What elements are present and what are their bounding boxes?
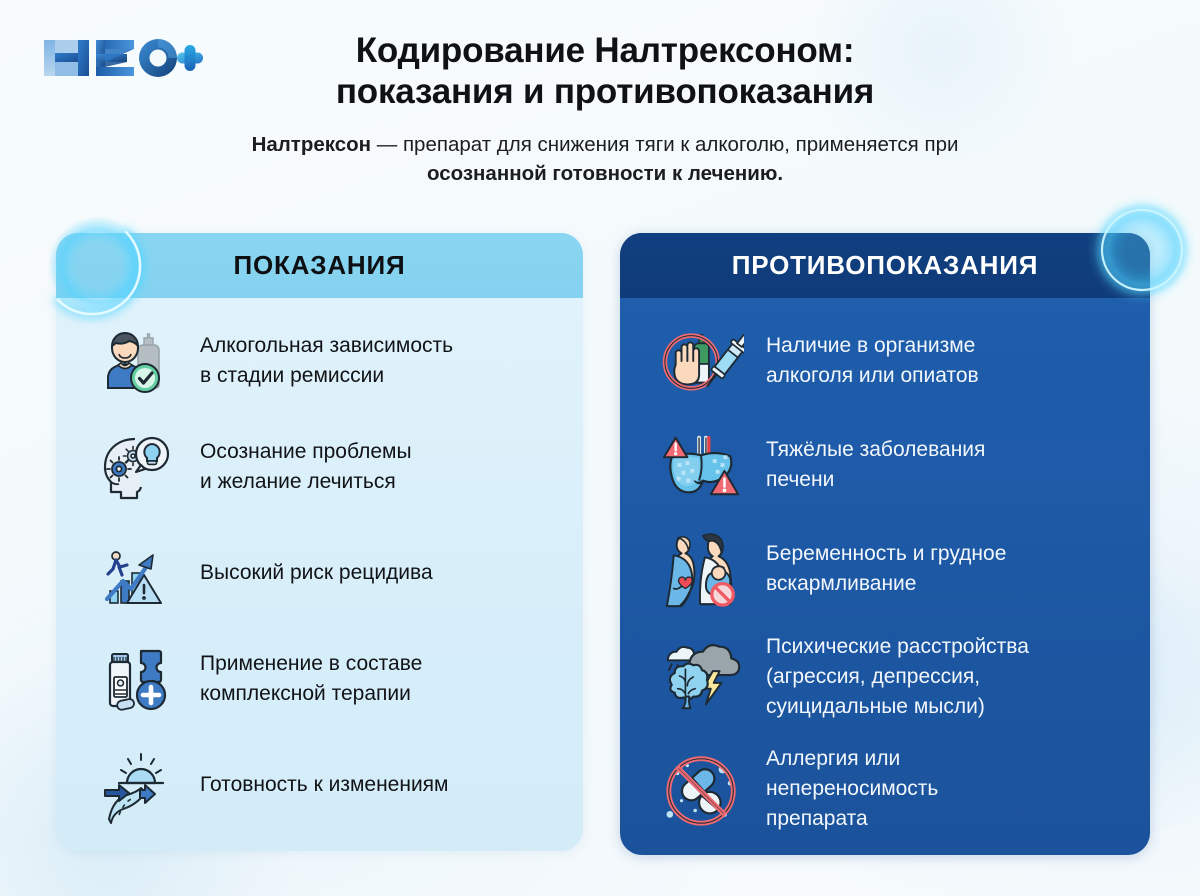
- list-item-line-2: алкоголя или опиатов: [766, 364, 979, 387]
- list-item-line-1: Алкогольная зависимость: [200, 334, 453, 357]
- list-item-line-2: печени: [766, 468, 834, 491]
- sunrise-road-arrow-icon: [96, 744, 178, 826]
- card-indications: ПОКАЗАНИЯ: [56, 233, 583, 851]
- list-item-line-3: суицидальные мысли): [766, 695, 985, 718]
- pregnancy-breastfeeding-icon: [662, 528, 744, 610]
- infographic-page: Кодирование Налтрексоном: показания и пр…: [0, 0, 1200, 896]
- stop-hand-bottle-syringe-icon: [662, 320, 744, 402]
- list-item-line-1: Аллергия или: [766, 747, 900, 770]
- card-contraindications-body: Наличие в организме алкоголя или опиатов: [620, 298, 1150, 854]
- list-item-text: Готовность к изменениям: [200, 770, 448, 800]
- list-item-line-1: Применение в составе: [200, 652, 422, 675]
- list-item-line-1: Тяжёлые заболевания: [766, 438, 985, 461]
- card-contraindications: ПРОТИВОПОКАЗАНИЯ: [620, 233, 1150, 855]
- no-pills-allergy-icon: [662, 748, 744, 830]
- list-item-line-1: Высокий риск рецидива: [200, 561, 433, 584]
- card-contraindications-title: ПРОТИВОПОКАЗАНИЯ: [732, 250, 1038, 281]
- list-item: Аллергия или непереносимость препарата: [662, 744, 1126, 834]
- list-item: Наличие в организме алкоголя или опиатов: [662, 320, 1126, 402]
- list-item: Тяжёлые заболевания печени: [662, 424, 1126, 506]
- card-indications-header: ПОКАЗАНИЯ: [56, 233, 583, 298]
- list-item-line-2: вскармливание: [766, 572, 916, 595]
- card-contraindications-header: ПРОТИВОПОКАЗАНИЯ: [620, 233, 1150, 298]
- list-item-text: Тяжёлые заболевания печени: [766, 435, 985, 495]
- card-indications-title: ПОКАЗАНИЯ: [234, 250, 406, 281]
- person-bottle-check-icon: [96, 320, 178, 402]
- list-item-text: Осознание проблемы и желание лечиться: [200, 437, 412, 497]
- list-item-text: Применение в составе комплексной терапии: [200, 649, 422, 709]
- list-item: Осознание проблемы и желание лечиться: [96, 426, 553, 508]
- list-item-line-2: в стадии ремиссии: [200, 364, 384, 387]
- list-item-line-2: и желание лечиться: [200, 470, 396, 493]
- list-item-line-1: Беременность и грудное: [766, 542, 1006, 565]
- list-item-line-3: препарата: [766, 807, 868, 830]
- list-item-text: Алкогольная зависимость в стадии ремисси…: [200, 331, 453, 391]
- list-item-text: Психические расстройства (агрессия, депр…: [766, 632, 1029, 722]
- cards-container: ПОКАЗАНИЯ: [0, 0, 1200, 896]
- list-item-text: Наличие в организме алкоголя или опиатов: [766, 331, 979, 391]
- card-indications-body: Алкогольная зависимость в стадии ремисси…: [56, 298, 583, 846]
- list-item-line-2: (агрессия, депрессия,: [766, 665, 980, 688]
- list-item-line-2: непереносимость: [766, 777, 938, 800]
- list-item: Готовность к изменениям: [96, 744, 553, 826]
- head-gears-idea-icon: [96, 426, 178, 508]
- list-item: Высокий риск рецидива: [96, 532, 553, 614]
- list-item: Психические расстройства (агрессия, депр…: [662, 632, 1126, 722]
- list-item: Применение в составе комплексной терапии: [96, 638, 553, 720]
- list-item: Беременность и грудное вскармливание: [662, 528, 1126, 610]
- rising-chart-risk-icon: [96, 532, 178, 614]
- list-item-text: Беременность и грудное вскармливание: [766, 539, 1006, 599]
- list-item-text: Высокий риск рецидива: [200, 558, 433, 588]
- list-item-line-1: Наличие в организме: [766, 334, 975, 357]
- list-item: Алкогольная зависимость в стадии ремисси…: [96, 320, 553, 402]
- brain-storm-cloud-icon: [662, 636, 744, 718]
- list-item-line-2: комплексной терапии: [200, 682, 411, 705]
- list-item-line-1: Психические расстройства: [766, 635, 1029, 658]
- list-item-line-1: Осознание проблемы: [200, 440, 412, 463]
- list-item-text: Аллергия или непереносимость препарата: [766, 744, 938, 834]
- liver-warning-icon: [662, 424, 744, 506]
- medicine-puzzle-cross-icon: [96, 638, 178, 720]
- list-item-line-1: Готовность к изменениям: [200, 773, 448, 796]
